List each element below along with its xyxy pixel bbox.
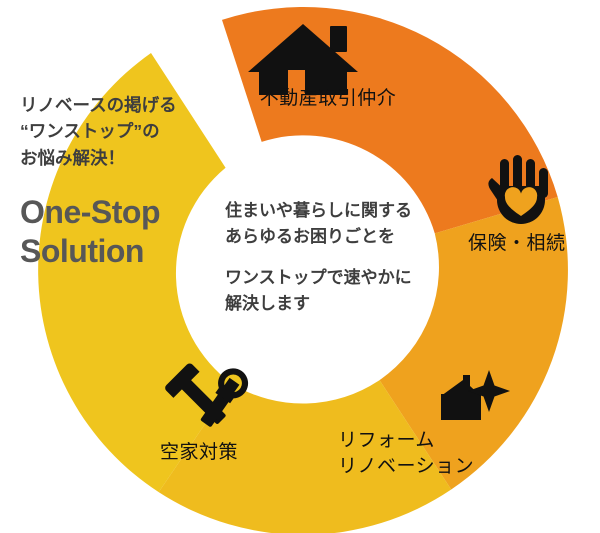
center-description: 住まいや暮らしに関する あらゆるお困りごとを ワンストップで速やかに 解決します — [225, 198, 465, 317]
segment-label-insurance: 保険・相続 — [468, 231, 598, 257]
center-description-line-1: 住まいや暮らしに関する あらゆるお困りごとを — [225, 198, 465, 251]
segment-label-real-estate: 不動産取引仲介 — [243, 86, 413, 112]
page-title: One-Stop Solution — [20, 193, 230, 271]
one-stop-solution-infographic: 不動産取引仲介 保険・相続 リフォーム リノベーション 空家対策 リノベースの掲… — [0, 0, 600, 533]
segment-label-reform: リフォーム リノベーション — [338, 428, 518, 479]
center-description-line-2: ワンストップで速やかに 解決します — [225, 265, 465, 318]
segment-label-vacant-house: 空家対策 — [160, 440, 290, 466]
lead-copy: リノベースの掲げる “ワンストップ”の お悩み解決！ — [20, 92, 230, 171]
left-text-panel: リノベースの掲げる “ワンストップ”の お悩み解決！ One-Stop Solu… — [20, 92, 230, 271]
